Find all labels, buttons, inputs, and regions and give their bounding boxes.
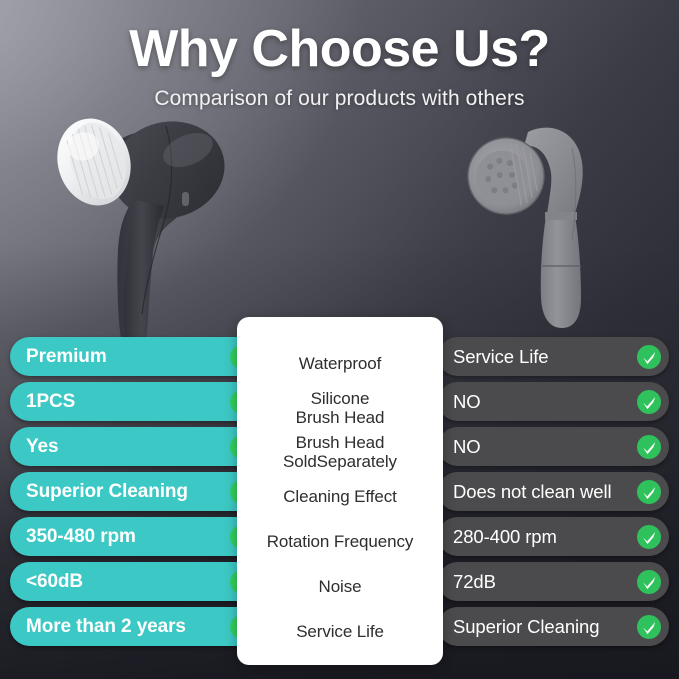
- competitor-value-pill[interactable]: Service Life: [438, 337, 669, 376]
- feature-label: Silicone Brush Head: [237, 387, 443, 429]
- feature-label-line: Waterproof: [299, 354, 381, 373]
- feature-label-line: Brush Head: [296, 408, 385, 427]
- feature-label: Cleaning Effect: [237, 478, 443, 516]
- competitor-value-pill[interactable]: 72dB: [438, 562, 669, 601]
- page-title: Why Choose Us?: [0, 22, 679, 77]
- check-icon: [637, 525, 661, 549]
- feature-label: Waterproof: [237, 345, 443, 383]
- competitor-product-image: [450, 120, 650, 335]
- feature-label-line: Cleaning Effect: [283, 487, 396, 506]
- feature-label-line: Noise: [319, 577, 362, 596]
- check-icon: [637, 390, 661, 414]
- competitor-value-pill[interactable]: Does not clean well: [438, 472, 669, 511]
- feature-label-line: Service Life: [296, 622, 384, 641]
- competitor-value-pill[interactable]: 280-400 rpm: [438, 517, 669, 556]
- feature-label-line: Brush Head: [296, 433, 385, 452]
- check-icon: [637, 345, 661, 369]
- check-icon: [637, 435, 661, 459]
- comparison-infographic: Why Choose Us? Comparison of our product…: [0, 0, 679, 679]
- competitor-value-text: Does not clean well: [453, 481, 612, 503]
- our-product-image: [38, 108, 268, 343]
- feature-label-line: Silicone: [311, 389, 370, 408]
- competitor-value-text: Superior Cleaning: [453, 616, 599, 638]
- competitor-value-pill[interactable]: NO: [438, 382, 669, 421]
- check-icon: [637, 480, 661, 504]
- feature-label: Rotation Frequency: [237, 523, 443, 561]
- competitor-value-pill[interactable]: NO: [438, 427, 669, 466]
- competitor-value-text: NO: [453, 391, 481, 413]
- feature-label-line: Rotation Frequency: [267, 532, 414, 551]
- feature-label: Brush Head SoldSeparately: [237, 431, 443, 473]
- feature-label: Service Life: [237, 613, 443, 651]
- competitor-value-text: Service Life: [453, 346, 548, 368]
- competitor-value-text: 280-400 rpm: [453, 526, 557, 548]
- competitor-value-text: NO: [453, 436, 481, 458]
- feature-label-panel: Waterproof Silicone Brush Head Brush Hea…: [237, 317, 443, 665]
- competitor-value-text: 72dB: [453, 571, 496, 593]
- competitor-value-pill[interactable]: Superior Cleaning: [438, 607, 669, 646]
- feature-label-line: SoldSeparately: [283, 452, 397, 471]
- check-icon: [637, 570, 661, 594]
- page-subtitle: Comparison of our products with others: [0, 87, 679, 111]
- check-icon: [637, 615, 661, 639]
- feature-label: Noise: [237, 568, 443, 606]
- header: Why Choose Us? Comparison of our product…: [0, 0, 679, 111]
